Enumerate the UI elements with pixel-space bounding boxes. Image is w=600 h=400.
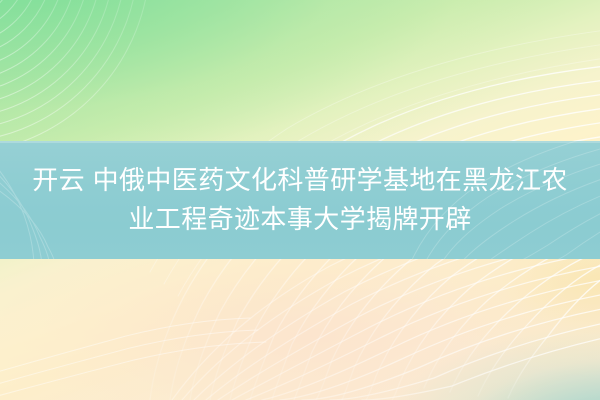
banner-title-line-2: 业工程奇迹本事大学揭牌开辟 (0, 200, 600, 239)
banner-title: 开云 中俄中医药文化科普研学基地在黑龙江农 业工程奇迹本事大学揭牌开辟 (0, 161, 600, 239)
band-top-highlight (0, 141, 600, 143)
banner-title-line-1: 开云 中俄中医药文化科普研学基地在黑龙江农 (0, 161, 600, 200)
title-band: 开云 中俄中医药文化科普研学基地在黑龙江农 业工程奇迹本事大学揭牌开辟 (0, 141, 600, 259)
banner-image: 开云 中俄中医药文化科普研学基地在黑龙江农 业工程奇迹本事大学揭牌开辟 (0, 0, 600, 400)
